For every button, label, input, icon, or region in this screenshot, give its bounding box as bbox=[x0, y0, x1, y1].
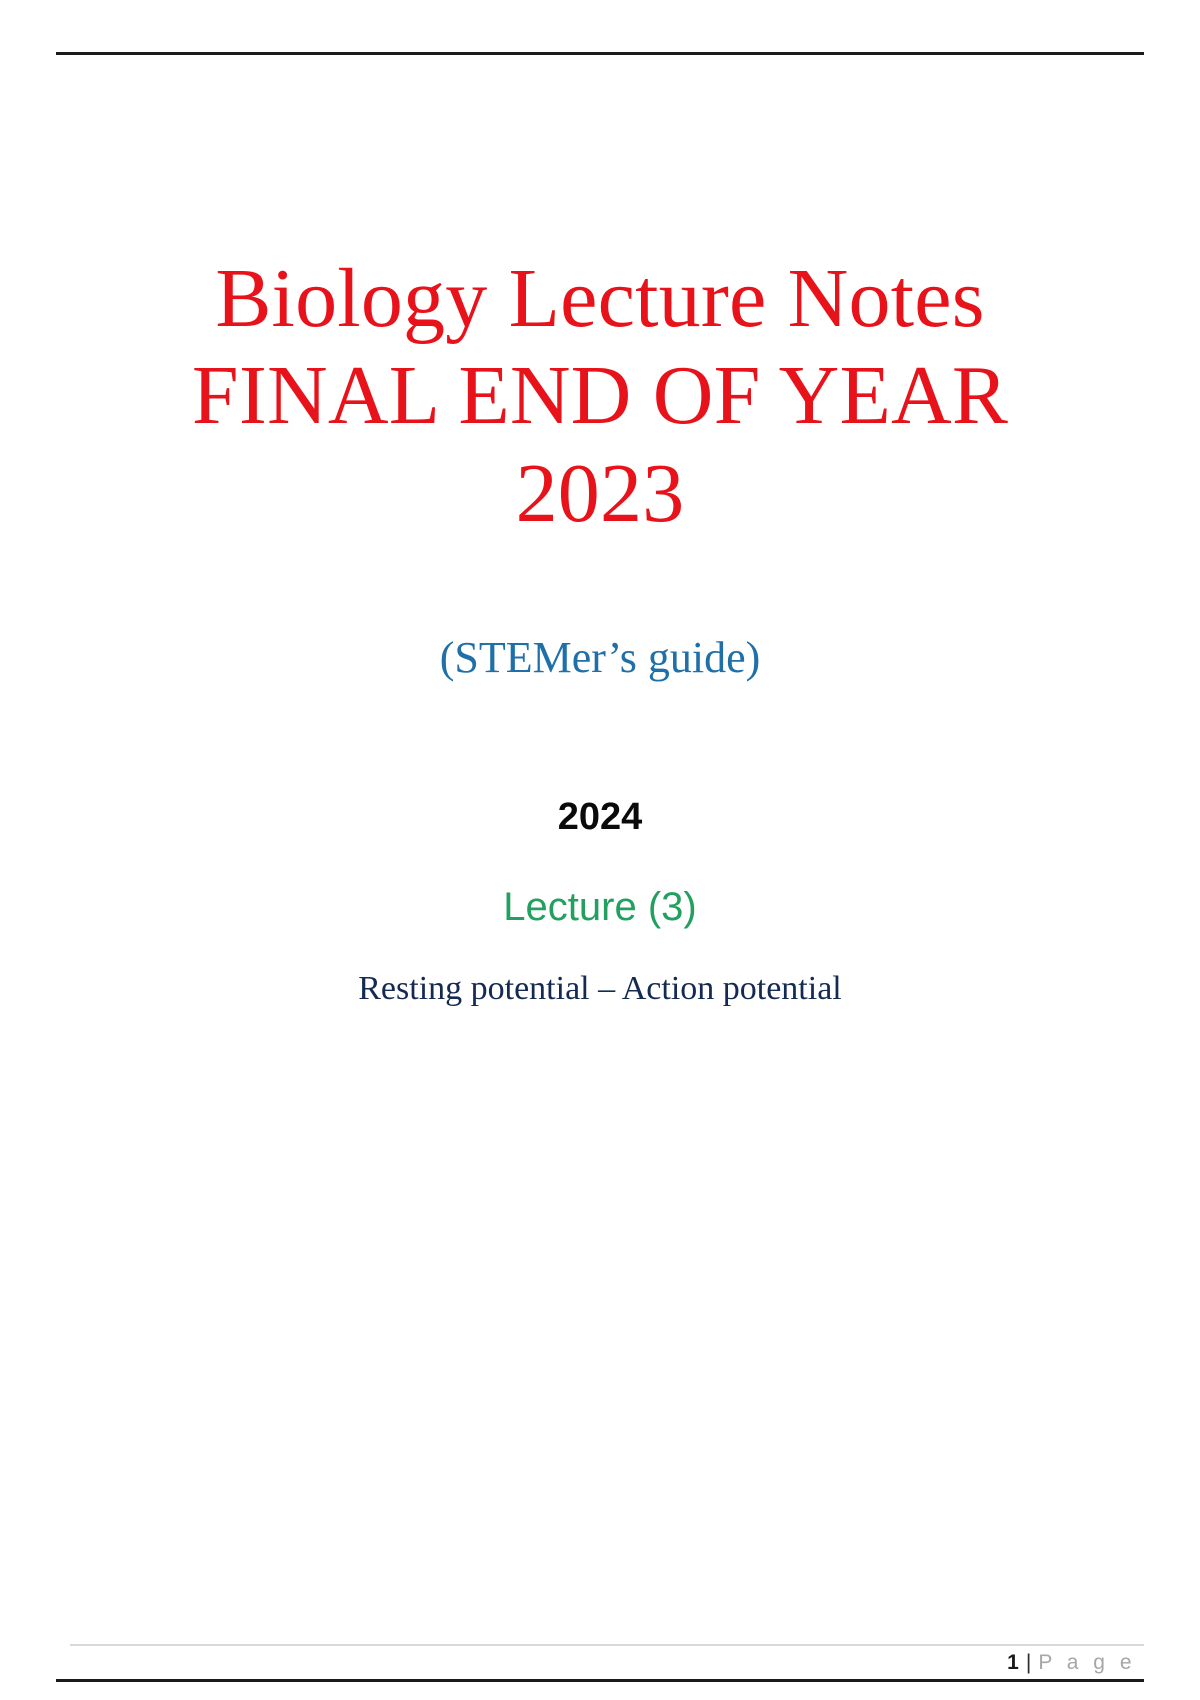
cover-content: Biology Lecture Notes FINAL END OF YEAR … bbox=[120, 250, 1080, 1010]
lecture-label: Lecture (3) bbox=[120, 883, 1080, 931]
footer-page-indicator: 1 | P a g e bbox=[1007, 1652, 1136, 1673]
document-page: Biology Lecture Notes FINAL END OF YEAR … bbox=[0, 0, 1200, 1700]
document-year: 2024 bbox=[120, 795, 1080, 841]
footer-divider-light bbox=[70, 1644, 1144, 1646]
footer-separator: | bbox=[1020, 1652, 1038, 1673]
page-title: Biology Lecture Notes FINAL END OF YEAR … bbox=[120, 250, 1080, 542]
footer-page-number: 1 bbox=[1007, 1652, 1020, 1673]
footer-page-word: P a g e bbox=[1038, 1652, 1136, 1673]
header-divider bbox=[56, 52, 1144, 55]
lecture-topic: Resting potential – Action potential bbox=[120, 969, 1080, 1010]
page-title-line-2: FINAL END OF YEAR bbox=[130, 347, 1070, 444]
page-title-line-3: 2023 bbox=[130, 445, 1070, 542]
footer-divider-dark bbox=[56, 1679, 1144, 1682]
page-title-line-1: Biology Lecture Notes bbox=[130, 250, 1070, 347]
document-subtitle: (STEMer’s guide) bbox=[120, 632, 1080, 685]
